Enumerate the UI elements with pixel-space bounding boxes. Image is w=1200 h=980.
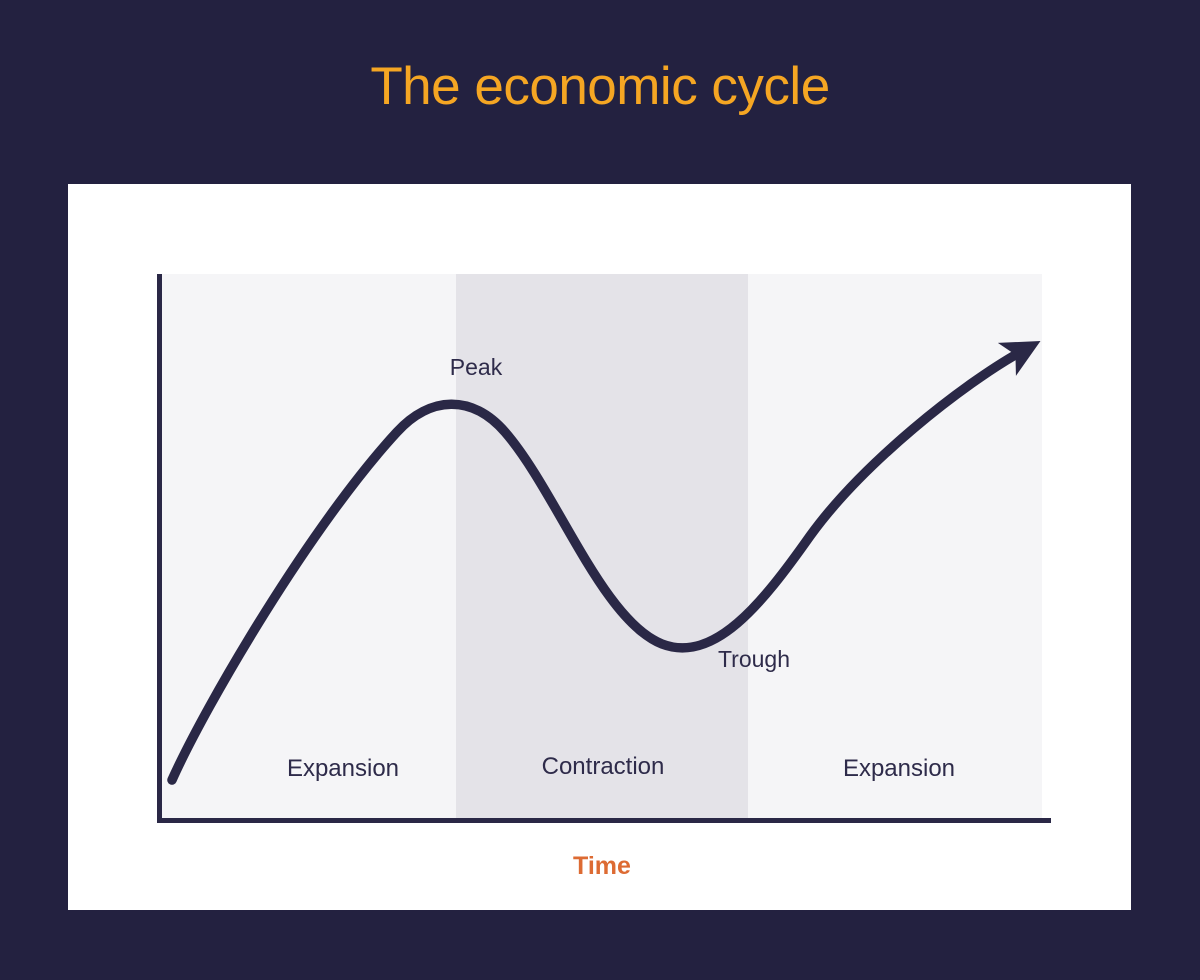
gdp-curve <box>162 274 1042 818</box>
plot-area: Peak Trough Expansion Contraction Expans… <box>162 274 1042 818</box>
x-axis-label: Time <box>162 852 1042 881</box>
x-axis-line <box>157 818 1051 823</box>
page-root: The economic cycle Gross Domestic Produc… <box>0 0 1200 980</box>
annotation-trough: Trough <box>674 646 834 673</box>
phase-label-expansion-1: Expansion <box>233 755 453 783</box>
chart-card: Gross Domestic Product Peak Trough Expan… <box>68 184 1131 910</box>
page-title: The economic cycle <box>0 57 1200 118</box>
gdp-curve-path <box>172 350 1024 780</box>
phase-label-expansion-2: Expansion <box>789 755 1009 783</box>
annotation-peak: Peak <box>396 354 556 381</box>
phase-label-contraction: Contraction <box>493 753 713 781</box>
